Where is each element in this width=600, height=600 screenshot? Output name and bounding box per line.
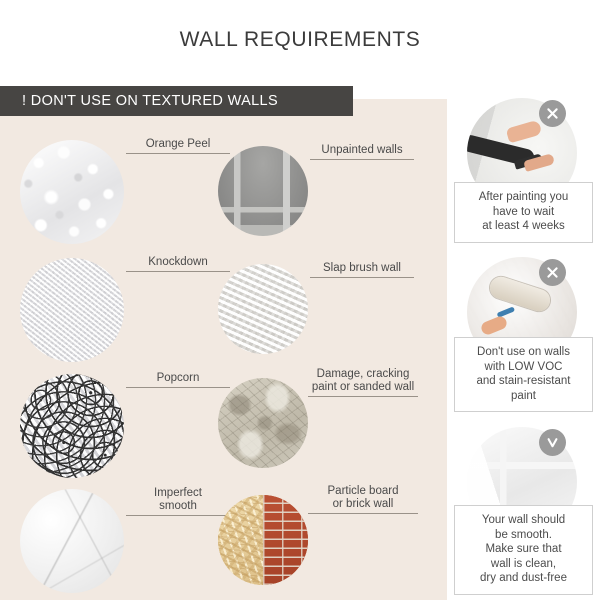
sample-slap-brush-wall: Slap brush wall: [210, 244, 420, 364]
warning-banner-label: ! DON'T USE ON TEXTURED WALLS: [22, 93, 278, 109]
label-underline: [308, 396, 418, 397]
damage-cracking-label-wrap: Damage, cracking paint or sanded wall: [308, 368, 418, 397]
osb-half: [218, 495, 263, 585]
knockdown-swatch-image: [20, 258, 124, 362]
sample-label: Unpainted walls: [310, 144, 414, 157]
damage-cracking-swatch-image: [218, 378, 308, 468]
close-icon: [539, 100, 566, 127]
sample-damage-cracking-paint: Damage, cracking paint or sanded wall: [210, 358, 420, 478]
sample-particle-board-brick: Particle board or brick wall: [210, 475, 420, 595]
label-underline: [308, 513, 418, 514]
check-icon: [539, 429, 566, 456]
unpainted-walls-label-wrap: Unpainted walls: [310, 144, 414, 160]
particle-board-brick-swatch-image: [218, 495, 308, 585]
label-underline: [310, 159, 414, 160]
sample-label: Slap brush wall: [310, 262, 414, 275]
close-icon: [539, 259, 566, 286]
imperfect-smooth-swatch-image: [20, 489, 124, 593]
card-text: Don't use on walls with LOW VOC and stai…: [454, 337, 593, 412]
sample-unpainted-walls: Unpainted walls: [210, 126, 420, 246]
sample-imperfect-smooth: Imperfect smooth: [20, 475, 230, 595]
sample-popcorn: Popcorn: [20, 360, 230, 480]
slap-brush-swatch-image: [218, 264, 308, 354]
brick-half: [263, 495, 308, 585]
particle-board-label-wrap: Particle board or brick wall: [308, 485, 418, 514]
unpainted-walls-swatch-image: [218, 146, 308, 236]
sample-knockdown: Knockdown: [20, 244, 230, 364]
sample-label: Damage, cracking paint or sanded wall: [308, 368, 418, 394]
sample-label: Particle board or brick wall: [308, 485, 418, 511]
sample-orange-peel: Orange Peel: [20, 126, 230, 246]
orange-peel-swatch-image: [20, 140, 124, 244]
advice-card-column: After painting you have to wait at least…: [447, 0, 600, 600]
popcorn-swatch-image: [20, 374, 124, 478]
texture-sample-grid: Orange Peel Unpainted walls Knockdown Sl…: [0, 120, 447, 600]
label-underline: [310, 277, 414, 278]
slap-brush-label-wrap: Slap brush wall: [310, 262, 414, 278]
card-text: Your wall should be smooth. Make sure th…: [454, 505, 593, 595]
warning-banner: ! DON'T USE ON TEXTURED WALLS: [0, 86, 353, 116]
card-text: After painting you have to wait at least…: [454, 182, 593, 243]
